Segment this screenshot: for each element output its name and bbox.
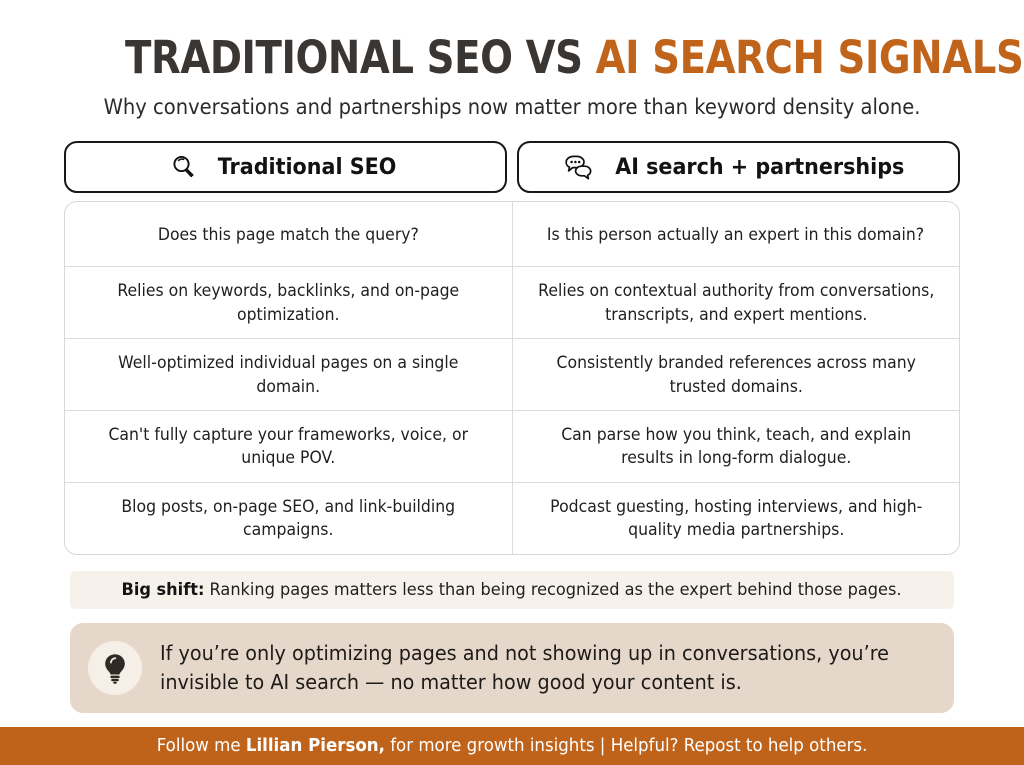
table-cell-ai: Relies on contextual authority from conv… — [513, 267, 960, 338]
table-row: Relies on keywords, backlinks, and on-pa… — [65, 266, 959, 338]
column-header-label: Traditional SEO — [218, 155, 397, 180]
big-shift-label: Big shift: — [122, 580, 205, 600]
footer-author-name: Lillian Pierson, — [246, 736, 385, 756]
comparison-table-wrapper: Does this page match the query? Is this … — [0, 193, 1024, 554]
table-cell-ai: Can parse how you think, teach, and expl… — [513, 411, 960, 482]
big-shift-text: Ranking pages matters less than being re… — [210, 580, 902, 600]
column-headers: Traditional SEO AI search + partnerships — [0, 119, 1024, 193]
table-cell-ai: Consistently branded references across m… — [513, 339, 960, 410]
cell-text: Can parse how you think, teach, and expl… — [537, 423, 935, 470]
cell-text: Can't fully capture your frameworks, voi… — [89, 423, 487, 470]
cell-text: Consistently branded references across m… — [537, 351, 935, 398]
table-cell-traditional: Does this page match the query? — [65, 202, 513, 266]
speech-bubbles-icon — [563, 152, 593, 182]
table-row: Does this page match the query? Is this … — [65, 202, 959, 266]
footer-bar: Follow me Lillian Pierson, for more grow… — [0, 727, 1024, 765]
cell-text: Blog posts, on-page SEO, and link-buildi… — [89, 495, 487, 542]
column-header-traditional-seo: Traditional SEO — [64, 141, 507, 193]
comparison-table: Does this page match the query? Is this … — [64, 201, 960, 554]
column-header-ai-search: AI search + partnerships — [517, 141, 960, 193]
column-header-label: AI search + partnerships — [615, 155, 904, 180]
title-part-ai: AI SEARCH SIGNALS — [596, 31, 1024, 84]
lightbulb-icon — [88, 641, 142, 695]
cell-text: Is this person actually an expert in thi… — [547, 223, 924, 246]
header: TRADITIONAL SEO VS AI SEARCH SIGNALS Why… — [0, 0, 1024, 119]
table-row: Can't fully capture your frameworks, voi… — [65, 410, 959, 482]
table-row: Blog posts, on-page SEO, and link-buildi… — [65, 482, 959, 554]
page-subtitle: Why conversations and partnerships now m… — [94, 95, 931, 119]
cell-text: Relies on keywords, backlinks, and on-pa… — [89, 279, 487, 326]
insight-callout-text: If you’re only optimizing pages and not … — [160, 639, 928, 697]
cell-text: Relies on contextual authority from conv… — [537, 279, 935, 326]
cell-text: Well-optimized individual pages on a sin… — [89, 351, 487, 398]
magnifier-icon — [169, 152, 199, 182]
infographic-page: TRADITIONAL SEO VS AI SEARCH SIGNALS Why… — [0, 0, 1024, 765]
table-cell-traditional: Can't fully capture your frameworks, voi… — [65, 411, 513, 482]
table-row: Well-optimized individual pages on a sin… — [65, 338, 959, 410]
big-shift-banner: Big shift: Ranking pages matters less th… — [70, 571, 954, 609]
title-part-traditional: TRADITIONAL SEO VS — [125, 31, 583, 84]
table-cell-traditional: Relies on keywords, backlinks, and on-pa… — [65, 267, 513, 338]
insight-callout: If you’re only optimizing pages and not … — [70, 623, 954, 713]
page-title: TRADITIONAL SEO VS AI SEARCH SIGNALS — [125, 34, 899, 81]
table-cell-ai: Podcast guesting, hosting interviews, an… — [513, 483, 960, 554]
footer-suffix: for more growth insights | Helpful? Repo… — [385, 736, 867, 756]
insight-text: If you’re only optimizing pages and not … — [160, 639, 897, 697]
table-cell-traditional: Well-optimized individual pages on a sin… — [65, 339, 513, 410]
table-cell-traditional: Blog posts, on-page SEO, and link-buildi… — [65, 483, 513, 554]
table-cell-ai: Is this person actually an expert in thi… — [513, 202, 960, 266]
layout-spacer — [0, 713, 1024, 727]
footer-prefix: Follow me — [157, 736, 246, 756]
cell-text: Does this page match the query? — [158, 223, 419, 246]
cell-text: Podcast guesting, hosting interviews, an… — [537, 495, 935, 542]
